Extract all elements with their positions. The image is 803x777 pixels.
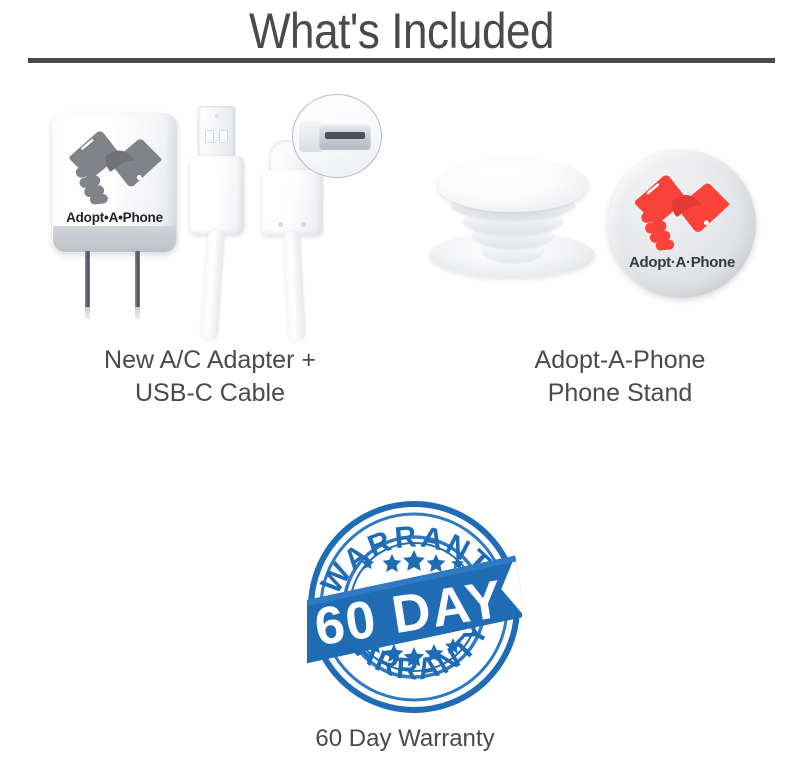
cable-strand-left [200,229,225,340]
caption-ac-adapter: New A/C Adapter + USB-C Cable [20,344,400,410]
handshake-logo-icon [628,172,736,252]
phone-stand-image [425,150,600,290]
adapter-prong-left [85,251,90,319]
adapter-wordmark: Adopt•A•Phone [52,210,177,225]
page-title: What's Included [48,2,755,60]
adapter-prong-right [135,251,140,319]
handshake-logo-icon [68,128,163,206]
popsocket-wordmark: Adopt·A·Phone [608,254,756,271]
usb-a-slot [205,130,214,143]
ac-adapter-and-cable-image: Adopt•A•Phone [30,88,390,338]
usb-c-connector-housing [262,170,323,235]
usb-a-slot [219,130,228,143]
cable-strand-right [283,232,306,341]
caption-warranty: 60 Day Warranty [230,722,580,755]
caption-phone-stand: Adopt-A-Phone Phone Stand [450,344,790,410]
branded-popsocket-image: Adopt·A·Phone [608,150,756,298]
usb-a-connector-housing [190,156,244,234]
usb-c-screw [278,222,283,227]
usb-a-marker [215,114,219,118]
usb-a-connector-tip [198,106,235,160]
title-divider [28,58,775,63]
usb-c-screw [301,222,306,227]
usb-c-inset-tip [319,124,371,150]
usb-c-magnifier-inset [292,94,382,178]
warranty-stamp-image: WARRANTY WARRANTY 60 DAY [307,498,522,716]
stand-top-cap [437,158,589,212]
header: What's Included [0,0,803,72]
